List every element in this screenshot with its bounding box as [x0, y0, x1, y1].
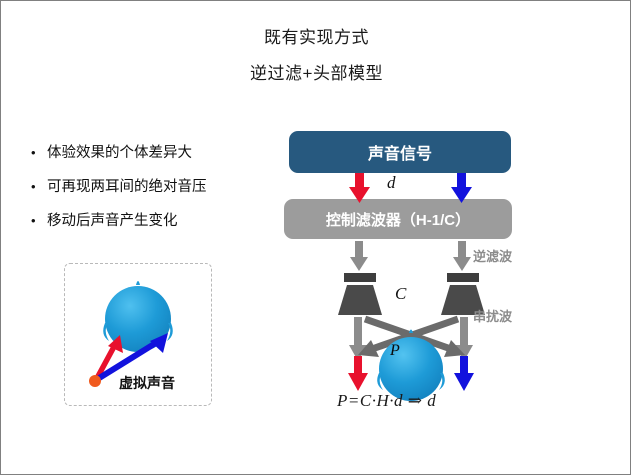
virtual-sound-label: 虚拟声音 — [119, 373, 175, 393]
input-signal-symbol: d — [387, 173, 396, 193]
left-inverse-filter-arrow-icon — [350, 241, 368, 271]
list-item: • 移动后声音产生变化 — [31, 209, 261, 230]
pressure-symbol: P — [390, 342, 400, 360]
bullet-marker-icon: • — [31, 146, 47, 159]
list-item-label: 可再现两耳间的绝对音压 — [47, 175, 207, 196]
list-item: • 可再现两耳间的绝对音压 — [31, 175, 261, 196]
formula-text: P=C·H·d ⇒ d — [337, 391, 436, 411]
page-subtitle: 逆过滤+头部模型 — [1, 59, 631, 84]
bullet-marker-icon: • — [31, 180, 47, 193]
left-speaker-icon — [338, 273, 382, 315]
inverse-filter-label: 逆滤波 — [473, 246, 512, 265]
crosstalk-label: 串扰波 — [473, 306, 512, 325]
list-item-label: 移动后声音产生变化 — [47, 209, 178, 230]
right-ear-blue-arrow-icon — [454, 356, 474, 391]
list-item: • 体验效果的个体差异大 — [31, 141, 261, 162]
page-title: 既有实现方式 — [1, 23, 631, 48]
red-input-arrow-icon — [349, 173, 370, 203]
list-item-label: 体验效果的个体差异大 — [47, 141, 192, 162]
bullet-marker-icon: • — [31, 214, 47, 227]
slide-canvas: 既有实现方式 逆过滤+头部模型 • 体验效果的个体差异大 • 可再现两耳间的绝对… — [0, 0, 631, 475]
blue-input-arrow-icon — [451, 173, 472, 203]
right-inverse-filter-arrow-icon — [453, 241, 471, 271]
bullet-list: • 体验效果的个体差异大 • 可再现两耳间的绝对音压 • 移动后声音产生变化 — [31, 141, 261, 243]
signal-flow-diagram — [281, 121, 541, 421]
transfer-function-symbol: C — [395, 284, 406, 304]
sound-source-dot-icon — [89, 375, 101, 387]
left-ear-red-arrow-icon — [348, 356, 368, 391]
